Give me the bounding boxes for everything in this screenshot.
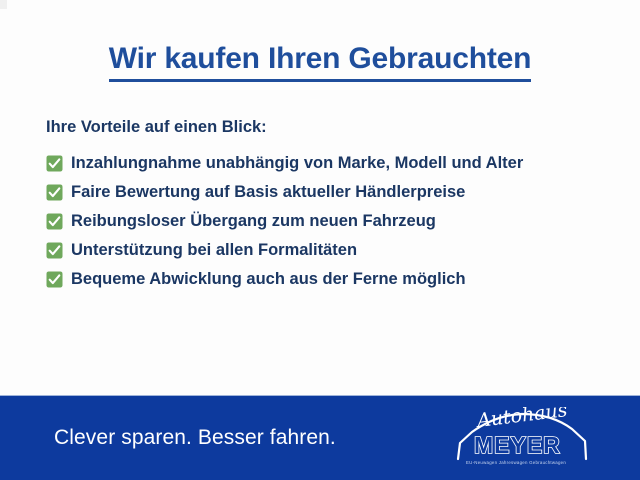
list-item: Unterstützung bei allen Formalitäten xyxy=(46,241,606,260)
footer-tagline: Clever sparen. Besser fahren. xyxy=(54,426,336,450)
list-item-label: Reibungsloser Übergang zum neuen Fahrzeu… xyxy=(71,212,436,231)
check-box-icon xyxy=(46,242,63,259)
benefits-list: Inzahlungnahme unabhängig von Marke, Mod… xyxy=(46,154,606,289)
list-item-label: Bequeme Abwicklung auch aus der Ferne mö… xyxy=(71,270,466,289)
page-title: Wir kaufen Ihren Gebrauchten xyxy=(0,42,640,82)
check-box-icon xyxy=(46,155,63,172)
benefits-intro: Ihre Vorteile auf einen Blick: xyxy=(46,118,606,138)
check-box-icon xyxy=(46,271,63,288)
list-item-label: Inzahlungnahme unabhängig von Marke, Mod… xyxy=(71,154,523,173)
dealer-logo: Autohaus MEYER EU-Neuwagen Jahreswagen G… xyxy=(456,407,588,469)
promo-slide: Wir kaufen Ihren Gebrauchten Ihre Vortei… xyxy=(0,0,640,480)
list-item: Faire Bewertung auf Basis aktueller Händ… xyxy=(46,183,606,202)
check-box-icon xyxy=(46,213,63,230)
corner-artifact xyxy=(0,0,7,9)
list-item-label: Faire Bewertung auf Basis aktueller Händ… xyxy=(71,183,465,202)
check-box-icon xyxy=(46,184,63,201)
logo-subline: EU-Neuwagen Jahreswagen Gebrauchtwagen xyxy=(466,460,566,465)
list-item: Reibungsloser Übergang zum neuen Fahrzeu… xyxy=(46,212,606,231)
list-item: Bequeme Abwicklung auch aus der Ferne mö… xyxy=(46,270,606,289)
list-item: Inzahlungnahme unabhängig von Marke, Mod… xyxy=(46,154,606,173)
benefits-section: Ihre Vorteile auf einen Blick: Inzahlung… xyxy=(46,118,606,289)
footer-band: Clever sparen. Besser fahren. Autohaus M… xyxy=(0,395,640,480)
logo-main-text: MEYER xyxy=(474,432,561,458)
page-title-text: Wir kaufen Ihren Gebrauchten xyxy=(109,42,532,82)
list-item-label: Unterstützung bei allen Formalitäten xyxy=(71,241,357,260)
